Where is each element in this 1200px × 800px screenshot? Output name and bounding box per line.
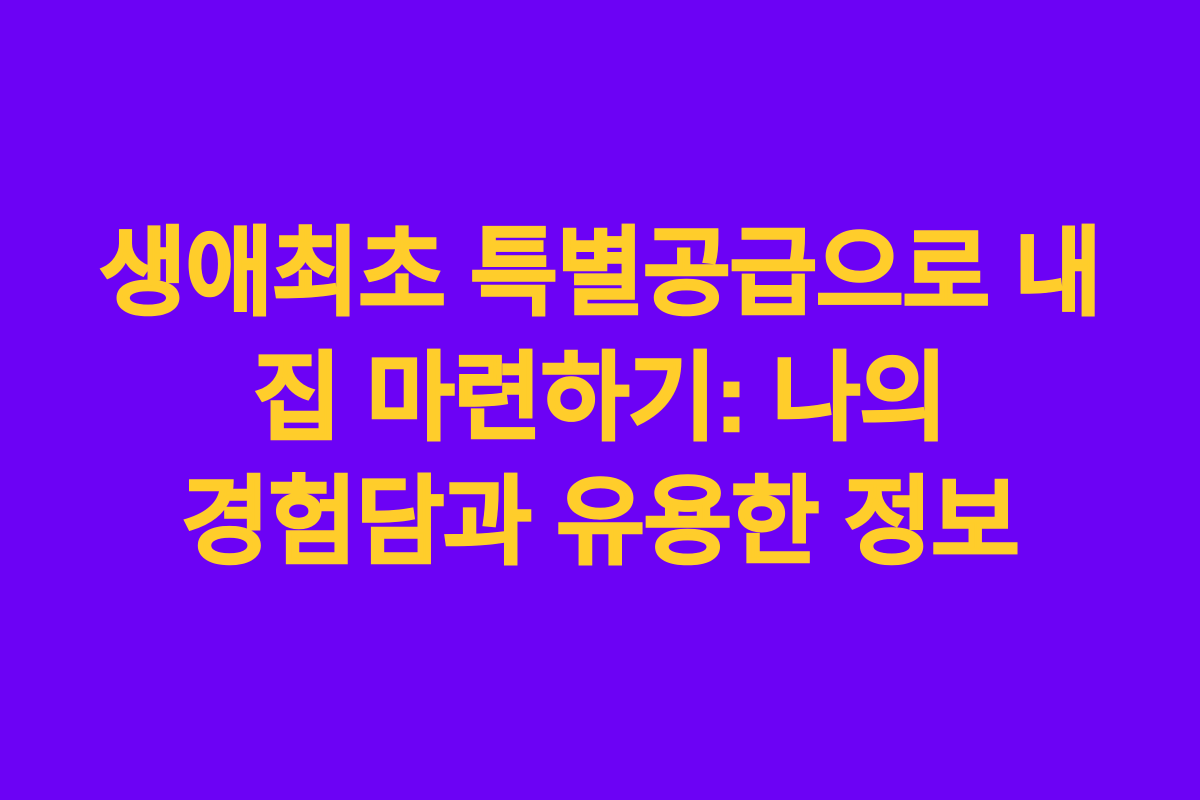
thumbnail-canvas: 생애최초 특별공급으로 내 집 마련하기: 나의 경험담과 유용한 정보: [0, 0, 1200, 800]
page-title: 생애최초 특별공급으로 내 집 마련하기: 나의 경험담과 유용한 정보: [10, 212, 1190, 586]
title-line-1: 생애최초 특별공급으로 내: [99, 212, 1101, 337]
title-line-3: 경험담과 유용한 정보: [181, 461, 1018, 586]
title-line-2: 집 마련하기: 나의: [253, 337, 947, 462]
